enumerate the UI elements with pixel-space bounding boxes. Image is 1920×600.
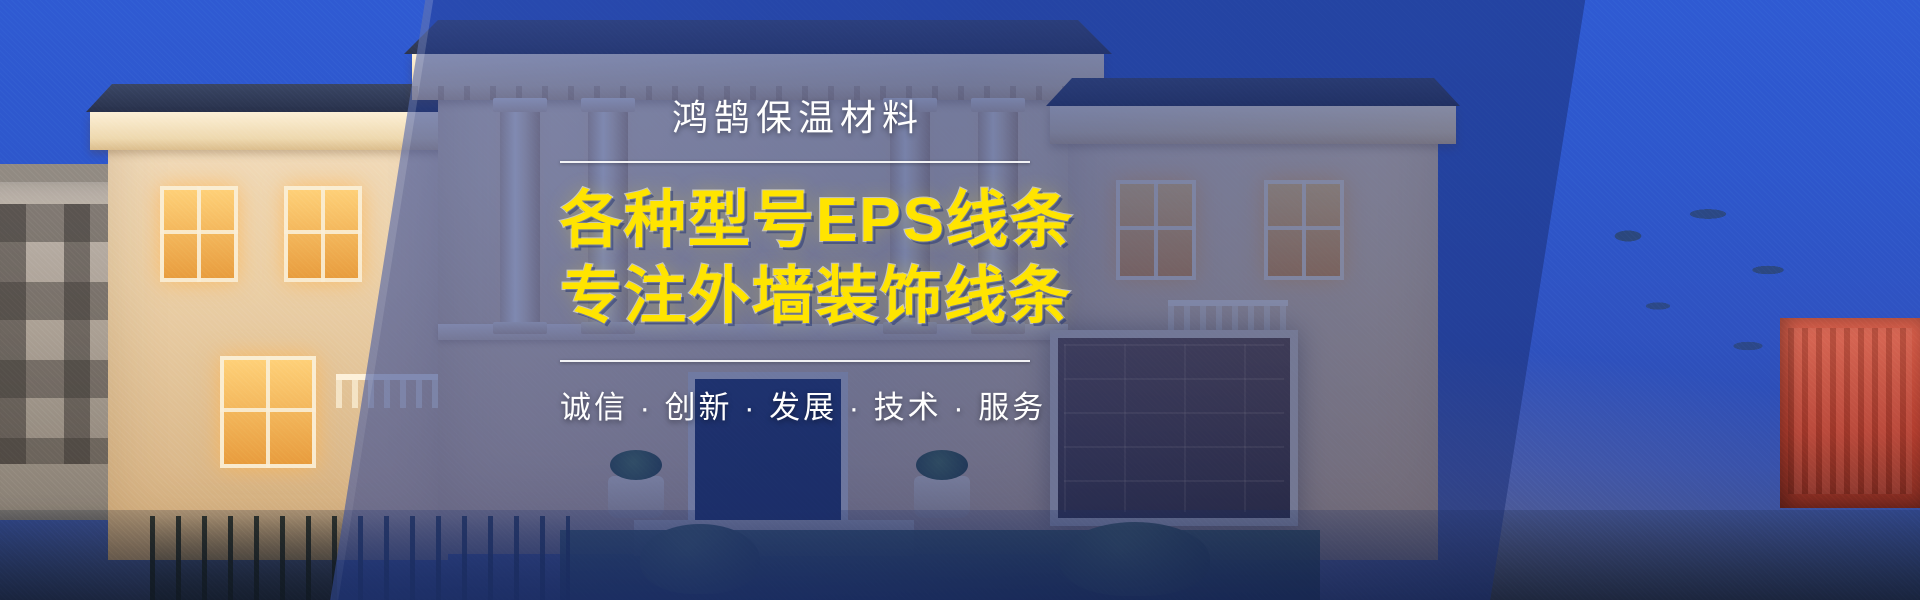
tagline-group: 诚信 · 创新 · 发展 · 技术 · 服务 — [560, 360, 1030, 427]
window-lit — [220, 356, 316, 468]
tagline: 诚信 · 创新 · 发展 · 技术 · 服务 — [560, 382, 1030, 427]
right-wing-cornice — [1050, 106, 1456, 144]
hero-banner: 鸿鹄保温材料 各种型号EPS线条 专注外墙装饰线条 诚信 · 创新 · 发展 ·… — [0, 0, 1920, 600]
foreground-ground — [0, 510, 1920, 600]
divider-top — [560, 161, 1030, 163]
banner-text-block: 鸿鹄保温材料 各种型号EPS线条 专注外墙装饰线条 诚信 · 创新 · 发展 ·… — [560, 96, 1030, 427]
brand-name: 鸿鹄保温材料 — [560, 96, 1030, 139]
left-wing-cornice — [90, 112, 466, 150]
garage-door — [1050, 330, 1298, 526]
headline-group: 各种型号EPS线条 专注外墙装饰线条 — [560, 183, 1030, 334]
center-roof — [404, 20, 1112, 54]
divider-bottom — [560, 360, 1030, 362]
window-lit — [1264, 180, 1344, 280]
window-lit — [160, 186, 238, 282]
headline-line-2: 专注外墙装饰线条 — [560, 259, 1030, 335]
villa-left-wing — [108, 90, 448, 560]
red-container-right — [1780, 318, 1920, 508]
headline-line-1: 各种型号EPS线条 — [560, 183, 1030, 259]
window-lit — [1116, 180, 1196, 280]
center-cornice — [412, 54, 1104, 100]
column — [500, 110, 540, 324]
window-lit — [284, 186, 362, 282]
right-wing-roof — [1046, 78, 1460, 106]
balustrade — [1168, 300, 1288, 334]
